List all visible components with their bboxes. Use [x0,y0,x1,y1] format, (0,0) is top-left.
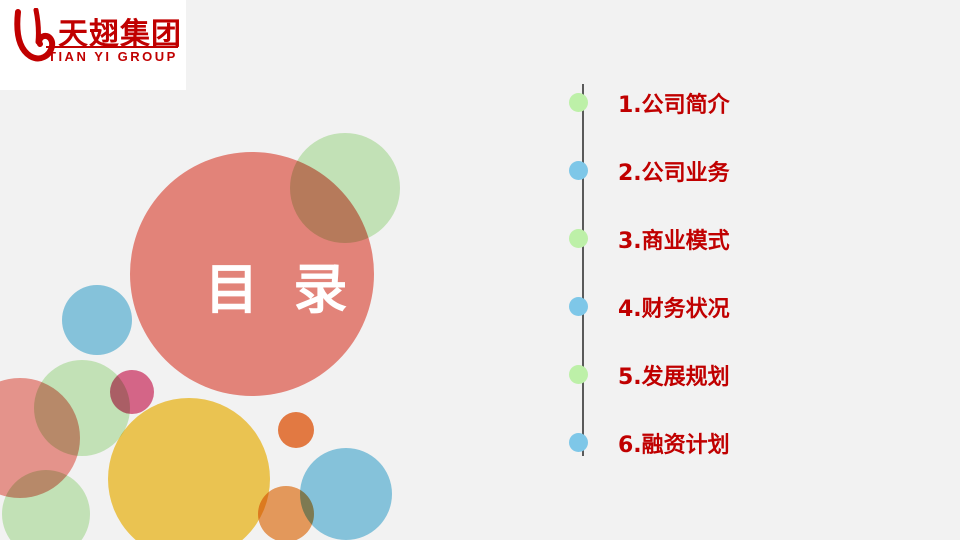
page-title: 目 录 [150,245,410,324]
logo-name-cn: 天翅集团 [58,9,182,53]
agenda-item-6[interactable]: 6.融资计划 [560,420,900,464]
bullet-dot-icon [569,365,588,384]
agenda-item-1[interactable]: 1.公司简介 [560,80,900,124]
agenda-item-label: 6.融资计划 [618,427,730,459]
agenda-connector-line [582,84,584,456]
agenda-item-label: 3.商业模式 [618,223,730,255]
bullet-dot-icon [569,297,588,316]
agenda-item-label: 5.发展规划 [618,359,730,391]
circle-yellow-large [108,398,270,540]
agenda-item-2[interactable]: 2.公司业务 [560,148,900,192]
agenda-item-4[interactable]: 4.财务状况 [560,284,900,328]
circle-pink-small [110,370,154,414]
bullet-dot-icon [569,433,588,452]
bullet-dot-icon [569,229,588,248]
circle-orange-tiny [258,486,314,540]
company-logo: 天翅集团 TIAN YI GROUP [0,0,186,90]
circle-blue-bottom [300,448,392,540]
circle-orange-small [278,412,314,448]
circle-blue-left [62,285,132,355]
agenda-item-3[interactable]: 3.商业模式 [560,216,900,260]
agenda-item-5[interactable]: 5.发展规划 [560,352,900,396]
bullet-dot-icon [569,93,588,112]
bullet-dot-icon [569,161,588,180]
agenda-list: 1.公司简介2.公司业务3.商业模式4.财务状况5.发展规划6.融资计划 [560,80,920,460]
slide-canvas: 目 录 天翅集团 TIAN YI GROUP 1.公司简介2.公司业务3.商业模… [0,0,960,540]
agenda-item-label: 1.公司简介 [618,87,730,119]
agenda-item-label: 4.财务状况 [618,291,730,323]
agenda-item-label: 2.公司业务 [618,155,730,187]
logo-name-en: TIAN YI GROUP [48,49,178,64]
